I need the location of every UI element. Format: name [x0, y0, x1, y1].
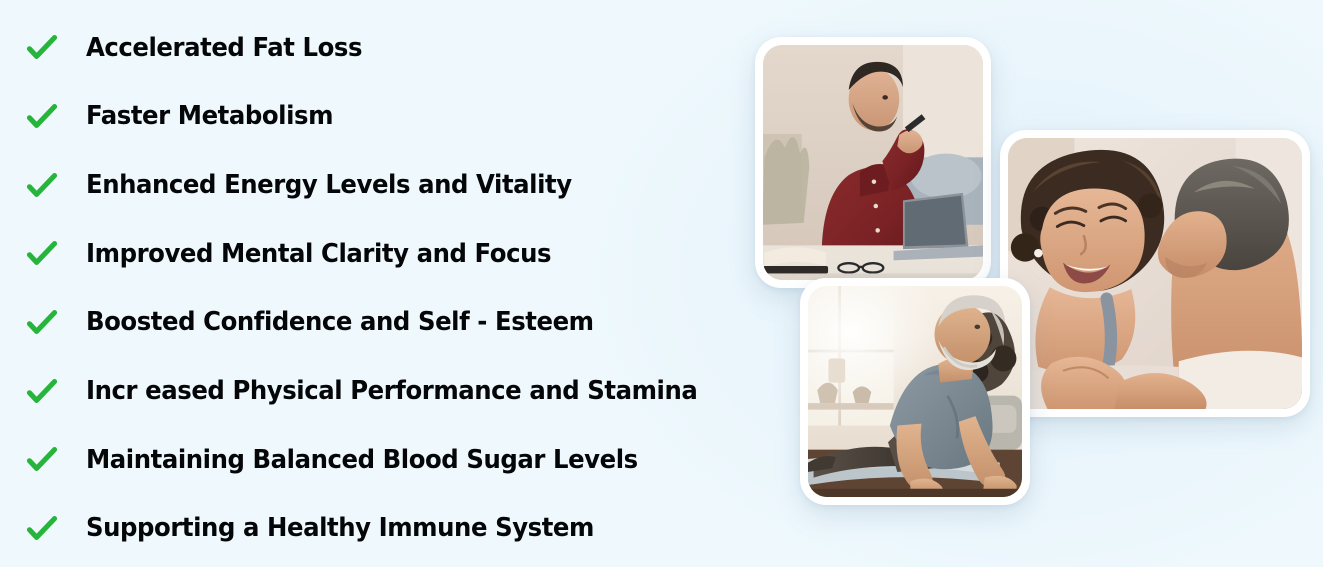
- green-check-icon: [25, 443, 59, 477]
- promo-benefits-banner: Accelerated Fat Loss Faster Metabolism E…: [0, 0, 1323, 567]
- benefit-label: Incr eased Physical Performance and Stam…: [86, 379, 697, 405]
- benefit-item: Maintaining Balanced Blood Sugar Levels: [0, 426, 790, 495]
- benefits-list: Accelerated Fat Loss Faster Metabolism E…: [0, 0, 790, 567]
- benefit-item: Accelerated Fat Loss: [0, 14, 790, 83]
- green-check-icon: [25, 237, 59, 271]
- benefit-label: Faster Metabolism: [86, 104, 333, 130]
- green-check-icon: [25, 306, 59, 340]
- benefit-item: Enhanced Energy Levels and Vitality: [0, 151, 790, 220]
- green-check-icon: [25, 512, 59, 546]
- photo-man-at-desk: [755, 37, 991, 288]
- photo-couple-embracing-image: [1008, 138, 1302, 409]
- benefit-item: Improved Mental Clarity and Focus: [0, 220, 790, 289]
- benefit-item: Incr eased Physical Performance and Stam…: [0, 357, 790, 426]
- photo-collage: [735, 18, 1323, 528]
- photo-couple-embracing: [1000, 130, 1310, 417]
- photo-man-doing-yoga-image: [808, 286, 1022, 497]
- benefit-label: Enhanced Energy Levels and Vitality: [86, 173, 572, 199]
- benefit-label: Maintaining Balanced Blood Sugar Levels: [86, 448, 638, 474]
- benefit-item: Boosted Confidence and Self - Esteem: [0, 289, 790, 358]
- benefit-label: Boosted Confidence and Self - Esteem: [86, 310, 594, 336]
- green-check-icon: [25, 100, 59, 134]
- green-check-icon: [25, 31, 59, 65]
- photo-man-at-desk-image: [763, 45, 983, 280]
- benefit-label: Improved Mental Clarity and Focus: [86, 242, 551, 268]
- benefit-item: Supporting a Healthy Immune System: [0, 495, 790, 564]
- benefit-item: Faster Metabolism: [0, 83, 790, 152]
- green-check-icon: [25, 375, 59, 409]
- benefit-label: Accelerated Fat Loss: [86, 36, 362, 62]
- benefit-label: Supporting a Healthy Immune System: [86, 516, 594, 542]
- green-check-icon: [25, 169, 59, 203]
- photo-man-doing-yoga: [800, 278, 1030, 505]
